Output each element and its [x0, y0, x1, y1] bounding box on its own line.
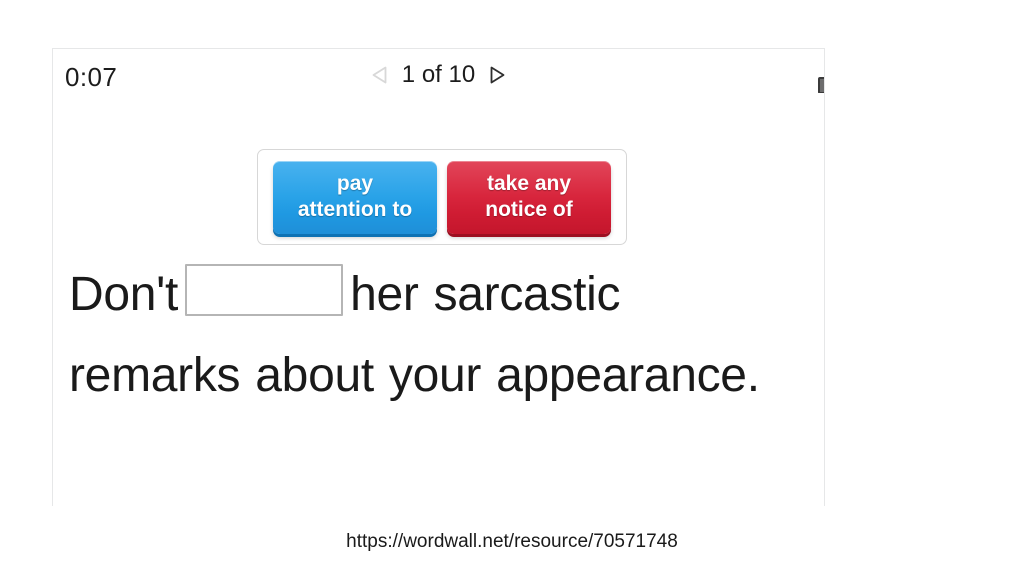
menu-icon[interactable] — [818, 77, 825, 93]
sentence-suffix-line-1: her sarcastic — [350, 268, 620, 321]
word-option-tile[interactable]: pay attention to — [273, 161, 437, 234]
page-indicator-label: 1 of 10 — [402, 63, 475, 87]
activity-card: 0:07 1 of 10 pay attention to take any n… — [52, 48, 825, 506]
sentence-prefix: Don't — [69, 268, 178, 321]
question-sentence: Don'ther sarcastic remarks about your ap… — [69, 254, 814, 416]
triangle-right-icon[interactable] — [488, 65, 506, 85]
source-url-caption: https://wordwall.net/resource/70571748 — [0, 531, 1024, 553]
word-option-line-2: attention to — [298, 197, 412, 223]
answer-drop-zone[interactable] — [185, 264, 343, 316]
sentence-suffix-line-2: remarks about your appearance. — [69, 349, 760, 402]
pagination-control: 1 of 10 — [53, 63, 824, 87]
card-topbar: 0:07 1 of 10 — [53, 49, 824, 111]
word-option-line-1: pay — [337, 171, 373, 197]
triangle-left-icon[interactable] — [371, 65, 389, 85]
word-options-tray: pay attention to take any notice of — [257, 149, 627, 245]
word-option-line-1: take any — [487, 171, 571, 197]
word-option-line-2: notice of — [485, 197, 573, 223]
word-option-tile[interactable]: take any notice of — [447, 161, 611, 234]
